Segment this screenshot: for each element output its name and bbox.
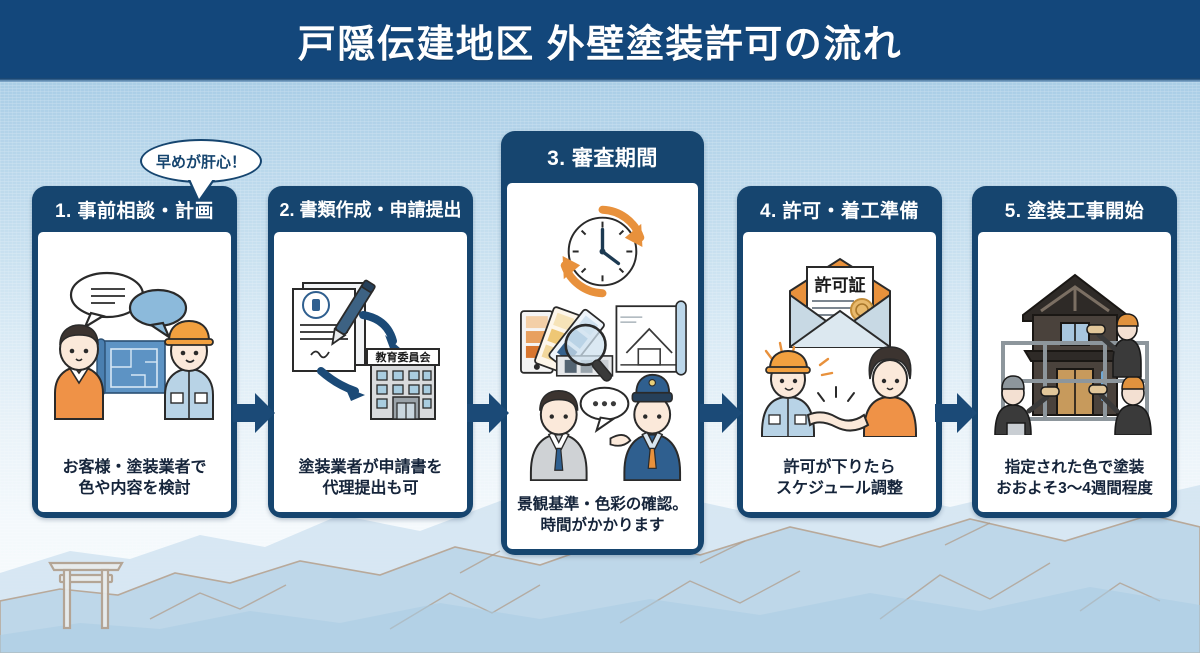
callout-text: 早めが肝心！ [156, 151, 246, 172]
step-card-2[interactable]: 2. 書類作成・申請提出 [268, 186, 473, 518]
step-card-3[interactable]: 3. 審査期間 [501, 131, 704, 555]
step-5-caption: 指定された色で塗装 おおよそ3〜4週間程度 [994, 454, 1155, 502]
step-3-header: 3. 審査期間 [501, 131, 704, 183]
step-card-4[interactable]: 4. 許可・着工準備 許可証 [737, 186, 942, 518]
step-3-body: 景観基準・色彩の確認。 時間がかかります [507, 183, 698, 549]
step-card-5[interactable]: 5. 塗装工事開始 [972, 186, 1177, 518]
step-3-caption: 景観基準・色彩の確認。 時間がかかります [515, 491, 690, 539]
building-sign-label: 教育委員会 [374, 350, 431, 364]
consultation-illustration [44, 240, 225, 453]
arrow-step1-to-step2 [233, 393, 275, 433]
certificate-label: 許可証 [814, 275, 865, 295]
arrow-step4-to-step5 [935, 393, 977, 433]
step-card-1[interactable]: 1. 事前相談・計画 [32, 186, 237, 518]
permit-granted-illustration: 許可証 [749, 240, 930, 453]
painting-work-illustration [984, 240, 1165, 454]
step-2-caption: 塗装業者が申請書を 代理提出も可 [296, 453, 444, 502]
step-1-body: お客様・塗装業者で 色や内容を検討 [38, 232, 231, 512]
documents-submission-illustration: 教育委員会 [280, 240, 461, 453]
step-1-caption: お客様・塗装業者で 色や内容を検討 [60, 453, 208, 502]
review-period-illustration [513, 191, 692, 491]
page-title-bar: 戸隠伝建地区 外壁塗装許可の流れ [0, 0, 1200, 80]
step-2-body: 教育委員会 [274, 232, 467, 512]
step-4-body: 許可証 [743, 232, 936, 512]
infographic-root: 戸隠伝建地区 外壁塗装許可の流れ 早めが肝心！ 1. 事前相談・計画 [0, 0, 1200, 653]
step-2-header: 2. 書類作成・申請提出 [268, 186, 473, 232]
step-5-header: 5. 塗装工事開始 [972, 186, 1177, 232]
step-4-caption: 許可が下りたら スケジュール調整 [774, 453, 905, 502]
callout-bubble: 早めが肝心！ [140, 139, 262, 183]
process-flow: 早めが肝心！ 1. 事前相談・計画 [0, 78, 1200, 653]
page-title: 戸隠伝建地区 外壁塗装許可の流れ [298, 13, 903, 68]
arrow-step2-to-step3 [467, 393, 509, 433]
step-5-body: 指定された色で塗装 おおよそ3〜4週間程度 [978, 232, 1171, 512]
arrow-step3-to-step4 [700, 393, 742, 433]
step-4-header: 4. 許可・着工準備 [737, 186, 942, 232]
